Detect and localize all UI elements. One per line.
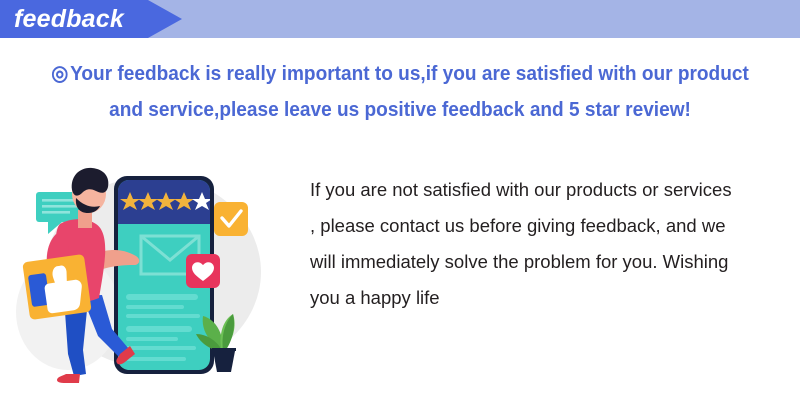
body-line-3: will immediately solve the problem for y…	[310, 244, 790, 280]
thumbs-up-card	[22, 254, 91, 320]
feedback-banner-page: feedback ◎Your feedback is really import…	[0, 0, 800, 400]
body-line-2: , please contact us before giving feedba…	[310, 208, 790, 244]
headline-line-1: ◎Your feedback is really important to us…	[28, 56, 772, 92]
body-text: If you are not satisfied with our produc…	[310, 172, 790, 316]
headline: ◎Your feedback is really important to us…	[28, 56, 772, 128]
double-circle-icon: ◎	[51, 62, 68, 85]
check-card-icon	[214, 202, 248, 236]
header-banner: feedback	[0, 0, 800, 40]
headline-line-2: and service,please leave us positive fee…	[28, 92, 772, 128]
body-line-4: you a happy life	[310, 280, 790, 316]
body-line-1: If you are not satisfied with our produc…	[310, 172, 790, 208]
feedback-illustration	[8, 162, 290, 384]
banner-title: feedback	[14, 0, 124, 38]
heart-card-icon	[186, 254, 220, 288]
headline-line-1-text: Your feedback is really important to us,…	[70, 62, 749, 85]
